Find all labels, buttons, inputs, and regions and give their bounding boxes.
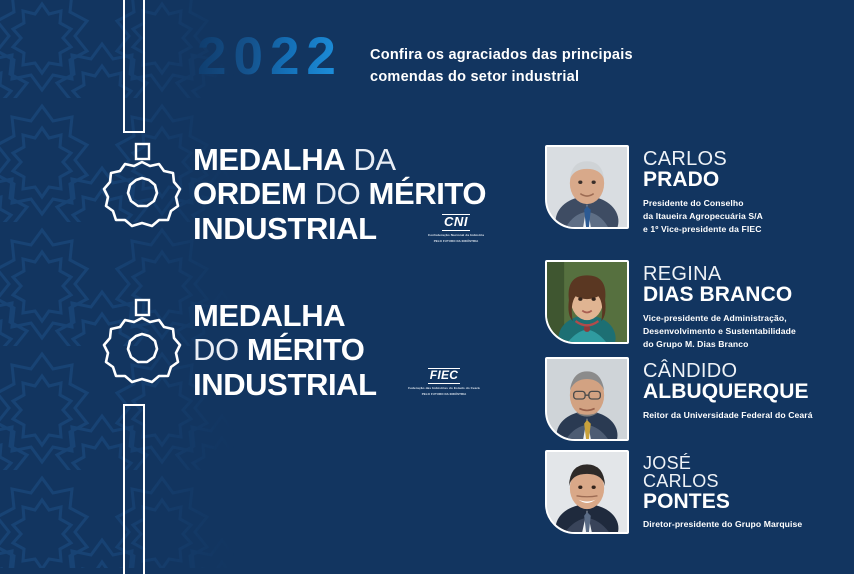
medal-title-line-2: ORDEM DO MÉRITO [193,177,486,211]
medal-title-line-3: INDUSTRIAL [193,368,377,402]
honoree-last-name: PONTES [643,491,802,512]
medal-title-line-1: MEDALHA DA [193,143,486,177]
medal-title-word: DO [315,176,361,211]
honoree-last-name: ALBUQUERQUE [643,381,813,402]
fiec-logo-wordmark: FIEC [428,368,461,384]
avatar [545,145,629,229]
honoree-text: REGINA DIAS BRANCO Vice-presidente de Ad… [643,260,796,351]
honoree-name: REGINA DIAS BRANCO [643,264,796,306]
fiec-logo-slogan: PELO FUTURO DA INDÚSTRIA [404,392,484,396]
medal-title-word: MÉRITO [247,332,365,367]
medal-title-word: MEDALHA [193,298,345,333]
medal-starburst-icon [100,140,184,236]
honoree-middle-name: CARLOS [643,472,802,490]
honoree-role: Presidente do Conselho da Itaueira Agrop… [643,197,763,236]
honoree-name: JOSÉ CARLOS PONTES [643,454,802,512]
cni-logo-tagline: Confederação Nacional da Indústria [418,233,494,238]
medal-title-word: ORDEM [193,176,306,211]
honoree-first-name: CARLOS [643,149,763,169]
medal-title-line-2: DO MÉRITO [193,333,377,367]
page-year: 2022 [197,30,343,83]
honoree-first-name: REGINA [643,264,796,284]
medal-title-word: DO [193,332,239,367]
honoree-card: CARLOS PRADO Presidente do Conselho da I… [545,145,763,236]
ribbon-strip-top [123,0,145,133]
honoree-last-name: DIAS BRANCO [643,284,796,305]
honoree-card: REGINA DIAS BRANCO Vice-presidente de Ad… [545,260,796,351]
medal-block-merito-industrial: MEDALHA DO MÉRITO INDUSTRIAL [193,299,377,402]
honoree-role: Reitor da Universidade Federal do Ceará [643,409,813,422]
medal-title-word: INDUSTRIAL [193,211,377,246]
honoree-first-name: CÂNDIDO [643,361,813,381]
medal-title-word: INDUSTRIAL [193,367,377,402]
medal-title-word: MEDALHA [193,142,345,177]
cni-logo-slogan: PELO FUTURO DA INDÚSTRIA [418,239,494,243]
honoree-name: CÂNDIDO ALBUQUERQUE [643,361,813,403]
cni-logo-wordmark: CNI [442,214,470,231]
honoree-text: JOSÉ CARLOS PONTES Diretor-presidente do… [643,450,802,531]
honoree-name: CARLOS PRADO [643,149,763,191]
medal-title-word: DA [353,142,395,177]
avatar [545,260,629,344]
honoree-card: CÂNDIDO ALBUQUERQUE Reitor da Universida… [545,357,813,441]
avatar [545,450,629,534]
fiec-logo: FIEC Federação das Indústrias do Estado … [404,366,484,396]
medal-title-line-1: MEDALHA [193,299,377,333]
honoree-text: CÂNDIDO ALBUQUERQUE Reitor da Universida… [643,357,813,422]
medal-title-word: MÉRITO [369,176,487,211]
page-subtitle: Confira os agraciados das principais com… [370,44,700,89]
honoree-text: CARLOS PRADO Presidente do Conselho da I… [643,145,763,236]
ribbon-strip-bottom [123,404,145,574]
fiec-logo-tagline: Federação das Indústrias do Estado do Ce… [404,386,484,391]
honoree-role: Vice-presidente de Administração, Desenv… [643,312,796,351]
avatar [545,357,629,441]
honoree-last-name: PRADO [643,169,763,190]
honoree-first-name: JOSÉ [643,454,802,472]
medal-starburst-icon [100,296,184,392]
cni-logo: CNI Confederação Nacional da Indústria P… [418,213,494,243]
honoree-card: JOSÉ CARLOS PONTES Diretor-presidente do… [545,450,802,534]
honoree-role: Diretor-presidente do Grupo Marquise [643,518,802,531]
